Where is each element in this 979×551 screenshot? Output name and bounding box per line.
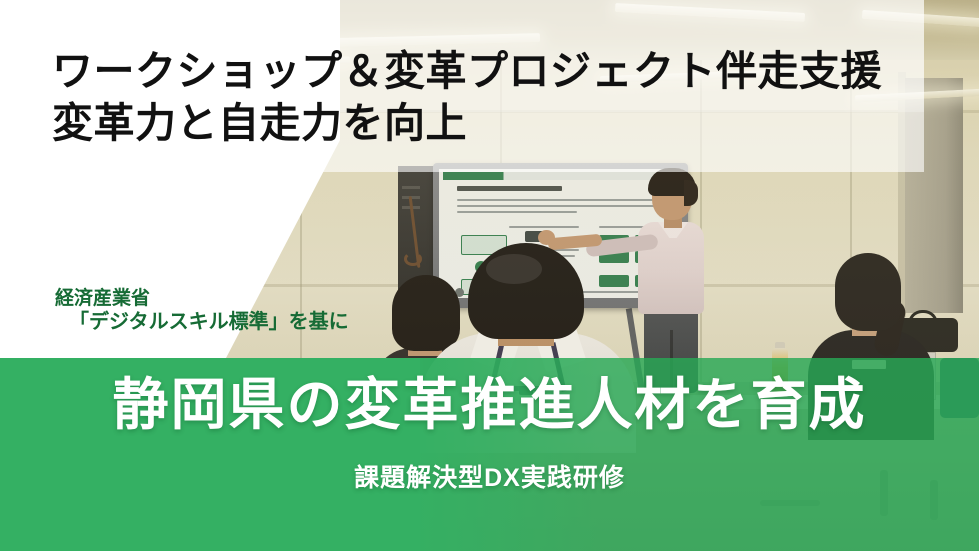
headline-title-group: ワークショップ＆変革プロジェクト伴走支援 変革力と自走力を向上: [52, 46, 882, 149]
main-headline: 静岡県の変革推進人材を育成: [0, 375, 979, 435]
kicker-line-2: 「デジタルスキル標準」を基に: [55, 310, 349, 334]
cable-loop: [404, 252, 422, 266]
title-line-1: ワークショップ＆変革プロジェクト伴走支援: [52, 46, 882, 98]
title-line-2: 変革力と自走力を向上: [52, 98, 882, 150]
sub-headline: 課題解決型DX実践研修: [0, 458, 979, 494]
kicker-line-1: 経済産業省: [55, 287, 349, 310]
slide-title-text: [457, 186, 562, 191]
presenter-hand: [538, 230, 555, 245]
slide-header-bar: [443, 172, 676, 180]
attendee-right-head: [835, 253, 901, 331]
training-promo-banner: ワークショップ＆変革プロジェクト伴走支援 変革力と自走力を向上 経済産業省 「デ…: [0, 0, 979, 551]
kicker-text-group: 経済産業省 「デジタルスキル標準」を基に: [55, 287, 349, 335]
attendee-left-head: [392, 275, 460, 351]
